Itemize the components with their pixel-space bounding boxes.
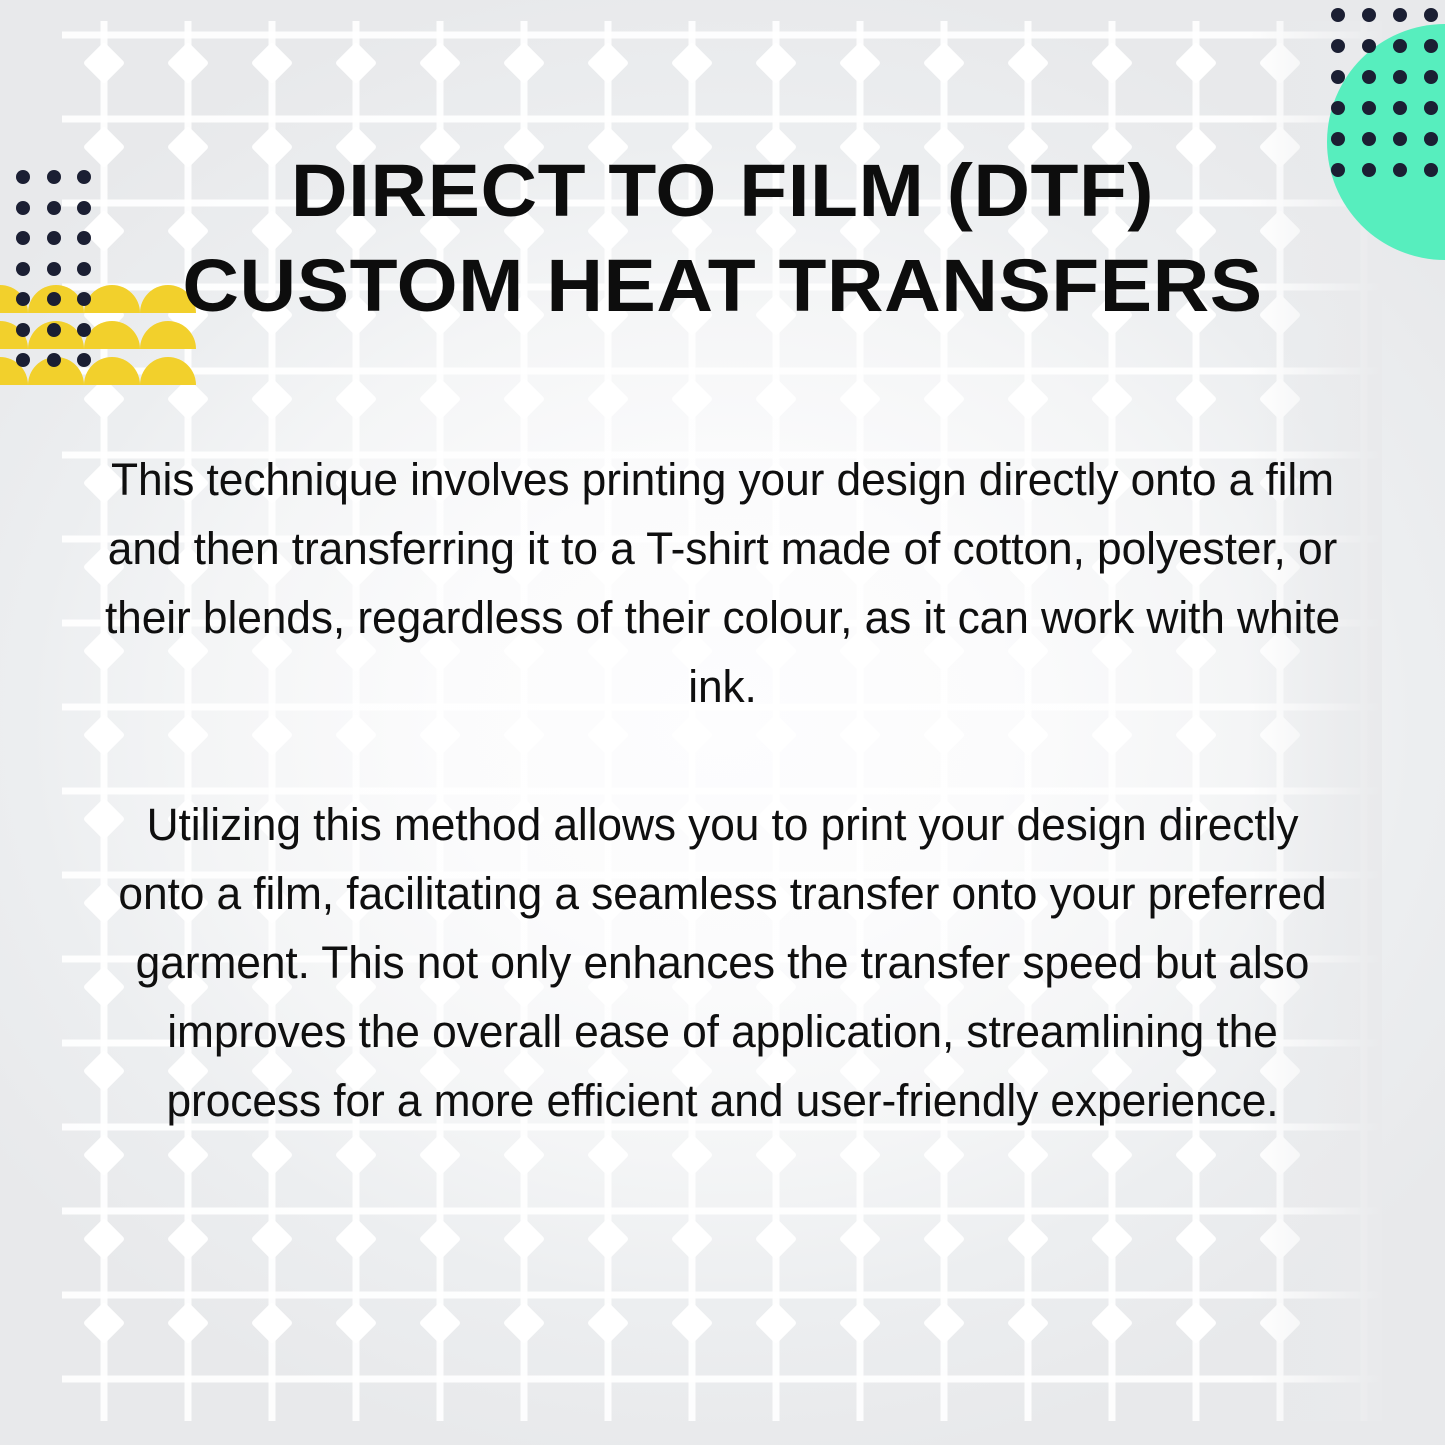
poster-canvas: DIRECT TO FILM (DTF) CUSTOM HEAT TRANSFE… xyxy=(0,0,1445,1445)
page-title-line-1: DIRECT TO FILM (DTF) xyxy=(0,143,1445,238)
body-copy: This technique involves printing your de… xyxy=(95,445,1350,1135)
content-area: DIRECT TO FILM (DTF) CUSTOM HEAT TRANSFE… xyxy=(0,0,1445,1445)
body-paragraph-2: Utilizing this method allows you to prin… xyxy=(104,790,1340,1135)
page-title: DIRECT TO FILM (DTF) CUSTOM HEAT TRANSFE… xyxy=(0,143,1445,333)
page-title-line-2: CUSTOM HEAT TRANSFERS xyxy=(0,238,1445,333)
body-paragraph-1: This technique involves printing your de… xyxy=(104,445,1340,721)
